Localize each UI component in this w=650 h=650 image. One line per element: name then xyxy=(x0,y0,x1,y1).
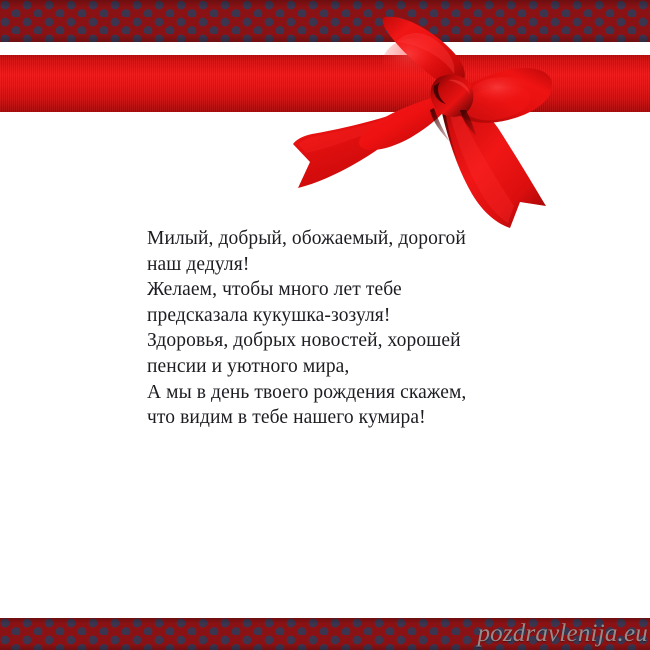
greeting-card: Милый, добрый, обожаемый, дорогой наш де… xyxy=(0,0,650,650)
band-shading-overlay xyxy=(0,618,650,650)
polka-dot-band-bottom xyxy=(0,618,650,650)
verse-line: Желаем, чтобы много лет тебе xyxy=(147,277,567,303)
verse-line: предсказала кукушка-зозуля! xyxy=(147,303,567,329)
verse-line: пенсии и уютного мира, xyxy=(147,354,567,380)
verse-line: Здоровья, добрых новостей, хорошей xyxy=(147,328,567,354)
greeting-verse: Милый, добрый, обожаемый, дорогой наш де… xyxy=(147,226,567,431)
bow-graphic xyxy=(288,16,563,231)
verse-line: наш дедуля! xyxy=(147,252,567,278)
bow-loop-right-gloss xyxy=(470,77,538,111)
verse-line: что видим в тебе нашего кумира! xyxy=(147,405,567,431)
verse-line: Милый, добрый, обожаемый, дорогой xyxy=(147,226,567,252)
red-satin-bow xyxy=(288,16,563,231)
verse-line: А мы в день твоего рождения скажем, xyxy=(147,380,567,406)
